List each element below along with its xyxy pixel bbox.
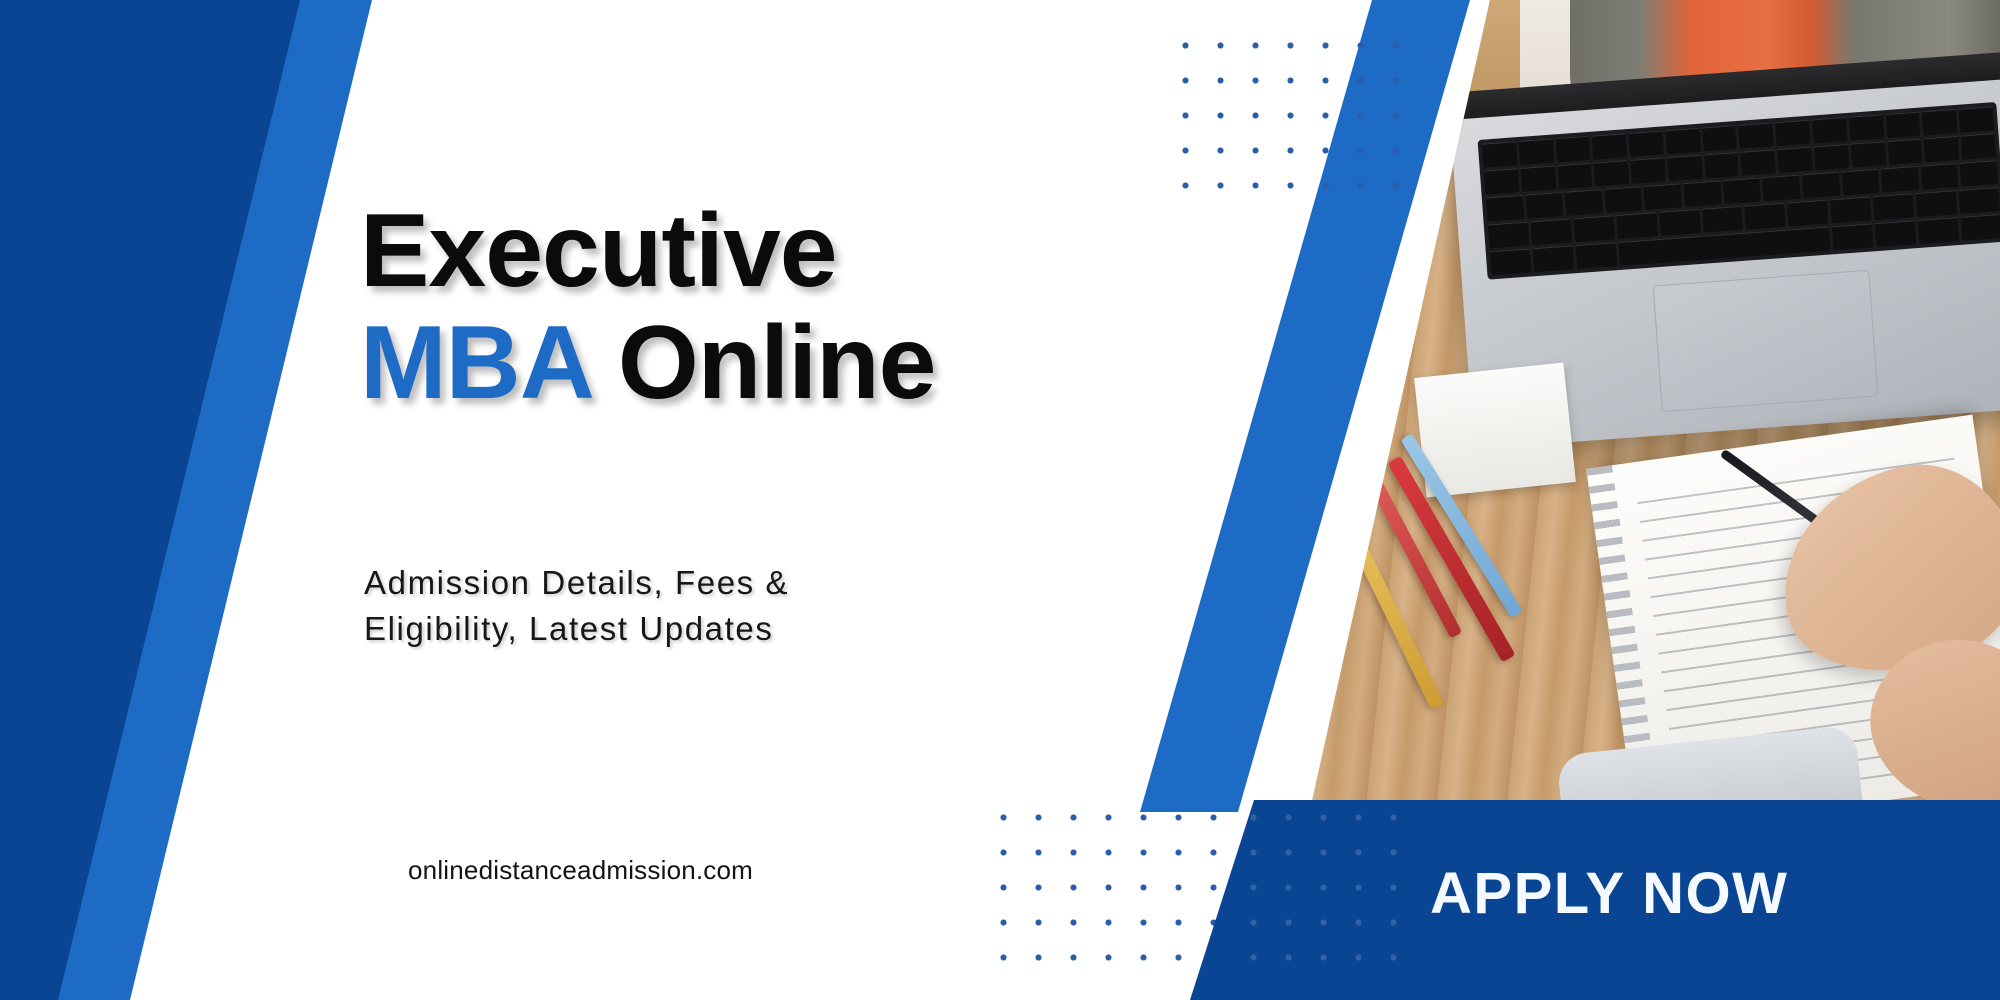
website-url[interactable]: onlinedistanceadmission.com (408, 855, 753, 886)
headline-accent-mba: MBA (360, 305, 590, 421)
apply-now-button-label[interactable]: APPLY NOW (1430, 860, 1788, 927)
headline-line-2: MBA Online (360, 307, 1120, 419)
promotional-banner: APPLY NOW Executive MBA Online Admission… (0, 0, 2000, 1000)
headline-line-2-rest: Online (590, 305, 935, 421)
dot-grid-over-cta (1236, 800, 1416, 985)
subtitle-line-1: Admission Details, Fees & (364, 560, 789, 606)
subtitle: Admission Details, Fees & Eligibility, L… (364, 560, 789, 651)
subtitle-line-2: Eligibility, Latest Updates (364, 606, 789, 652)
photo-laptop-trackpad (1653, 270, 1879, 413)
photo-pencil-yellow (1344, 524, 1444, 710)
headline-line-1: Executive (360, 195, 1120, 307)
photo-laptop-keyboard (1478, 102, 2000, 280)
dot-grid-top-right (1168, 28, 1420, 208)
text-content-area: Executive MBA Online Admission Details, … (360, 0, 1120, 1000)
page-title: Executive MBA Online (360, 195, 1120, 420)
